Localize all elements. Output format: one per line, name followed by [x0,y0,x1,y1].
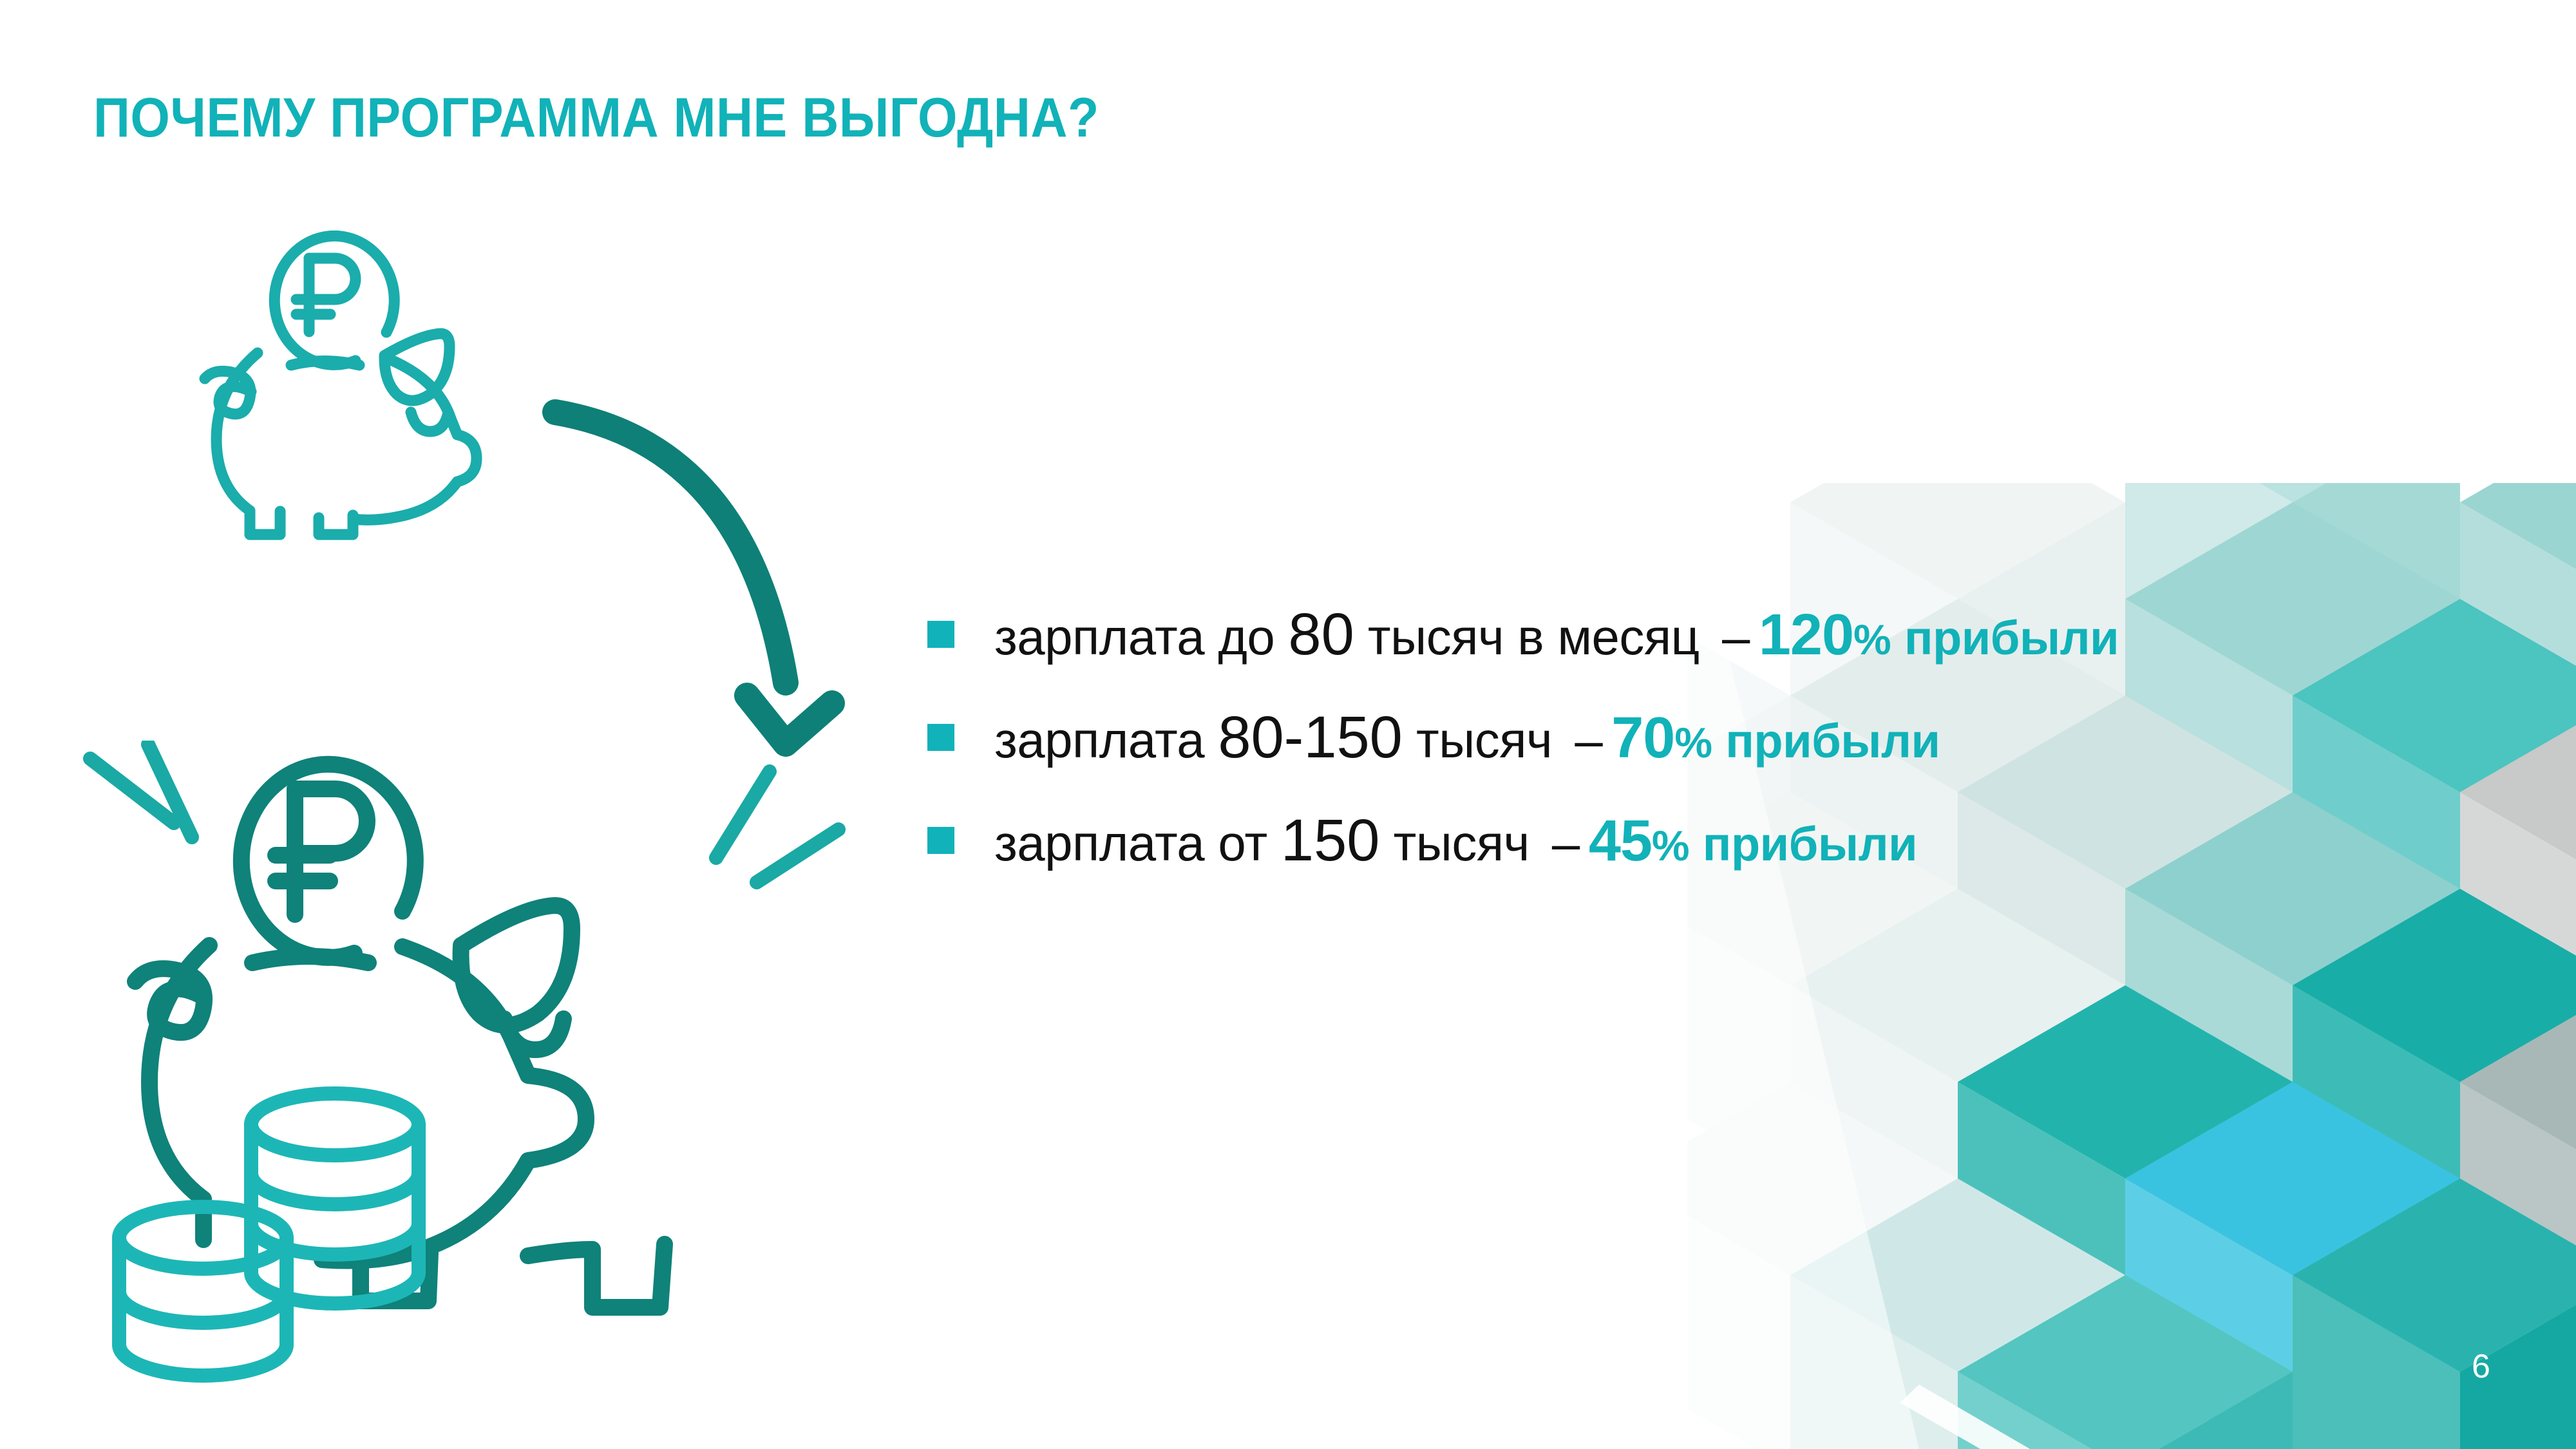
bullet-lead: зарплата от [994,815,1281,871]
bullet-lead: зарплата [994,712,1218,768]
bullet-text: зарплата 80-150 тысяч –70% прибыли [994,708,1940,767]
curved-down-arrow-icon [515,374,914,799]
list-item: зарплата 80-150 тысяч –70% прибыли [927,686,2119,789]
bullet-tail: тысяч в месяц [1354,609,1713,665]
percent-sign: % [1853,616,1891,663]
bullet-square-icon [927,724,954,751]
bullet-percent: 45 [1589,809,1652,873]
bullet-dash: – [1566,712,1611,768]
bullet-tail: тысяч [1403,712,1566,768]
percent-sign: % [1652,822,1689,869]
bullet-amount: 80-150 [1218,705,1402,770]
bullet-square-icon [927,621,954,648]
page-title: ПОЧЕМУ ПРОГРАММА МНЕ ВЫГОДНА? [93,90,1099,146]
bullet-square-icon [927,827,954,854]
bullet-percent: 120 [1759,603,1853,667]
slide-root: ПОЧЕМУ ПРОГРАММА МНЕ ВЫГОДНА? [0,0,2576,1449]
percent-sign: % [1674,719,1712,766]
benefit-list: зарплата до 80 тысяч в месяц –120% прибы… [927,583,2119,892]
page-number: 6 [2472,1347,2490,1386]
piggy-bank-small-icon [174,206,573,541]
list-item: зарплата до 80 тысяч в месяц –120% прибы… [927,583,2119,686]
bullet-tail: тысяч [1379,815,1543,871]
bullet-amount: 80 [1288,601,1354,667]
bullet-dash: – [1543,815,1589,871]
bullet-text: зарплата до 80 тысяч в месяц –120% прибы… [994,605,2119,664]
bullet-lead: зарплата до [994,609,1288,665]
bullet-percent: 70 [1611,706,1674,770]
bullet-text: зарплата от 150 тысяч –45% прибыли [994,811,1917,870]
piggy-bank-large-icon [77,741,876,1397]
bullet-amount: 150 [1281,808,1380,873]
bullet-highlight-word: прибыли [1904,611,2119,665]
bullet-dash: – [1713,609,1759,665]
bullet-highlight-word: прибыли [1703,817,1917,871]
list-item: зарплата от 150 тысяч –45% прибыли [927,789,2119,892]
bullet-highlight-word: прибыли [1725,714,1940,768]
